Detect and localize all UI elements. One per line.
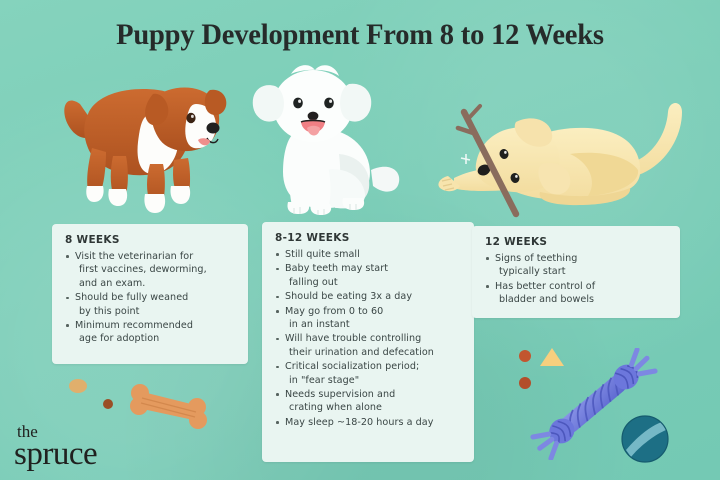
- list-item: Minimum recommended age for adoption: [65, 319, 236, 346]
- teal-ball-toy: [620, 414, 670, 464]
- bullet-line: bladder and bowels: [495, 293, 668, 306]
- bullet-list: Visit the veterinarian for first vaccine…: [65, 250, 236, 346]
- bullet-line: Minimum recommended: [75, 320, 193, 331]
- bullet-line: their urination and defecation: [285, 346, 462, 359]
- treat-kibble-dots: [512, 342, 582, 394]
- bullet-line: Still quite small: [285, 249, 360, 260]
- list-item: May go from 0 to 60 in an instant: [275, 305, 462, 332]
- list-item: Baby teeth may start falling out: [275, 262, 462, 289]
- bullet-line: May go from 0 to 60: [285, 306, 383, 317]
- logo-line-spruce: spruce: [14, 439, 97, 470]
- bullet-line: typically start: [495, 265, 668, 278]
- brown-white-puppy-standing: [58, 52, 248, 217]
- bullet-line: Critical socialization period;: [285, 361, 419, 372]
- bullet-line: by this point: [75, 305, 236, 318]
- bullet-line: Has better control of: [495, 281, 595, 292]
- list-item: Should be eating 3x a day: [275, 290, 462, 303]
- bullet-line: in "fear stage": [285, 374, 462, 387]
- card-heading: 8-12 WEEKS: [275, 232, 462, 244]
- bullet-line: May sleep ~18-20 hours a day: [285, 417, 433, 428]
- yellow-lab-puppy-with-stick: [420, 92, 710, 220]
- bullet-line: Signs of teething: [495, 253, 577, 264]
- card-heading: 12 WEEKS: [485, 236, 668, 248]
- bullet-line: crating when alone: [285, 401, 462, 414]
- list-item: Critical socialization period; in "fear …: [275, 360, 462, 387]
- bullet-line: Should be fully weaned: [75, 292, 188, 303]
- bullet-line: Visit the veterinarian for: [75, 251, 193, 262]
- list-item: Will have trouble controlling their urin…: [275, 332, 462, 359]
- infographic-canvas: Puppy Development From 8 to 12 Weeks: [0, 0, 720, 480]
- page-title: Puppy Development From 8 to 12 Weeks: [18, 18, 702, 52]
- list-item: Signs of teething typically start: [485, 252, 668, 279]
- bullet-line: and an exam.: [75, 277, 236, 290]
- info-card-8-12-weeks: 8-12 WEEKS Still quite small Baby teeth …: [262, 222, 474, 462]
- the-spruce-logo: the spruce: [14, 424, 97, 470]
- bullet-line: Will have trouble controlling: [285, 333, 421, 344]
- bullet-line: in an instant: [285, 318, 462, 331]
- bullet-line: Should be eating 3x a day: [285, 291, 412, 302]
- bullet-line: Needs supervision and: [285, 389, 395, 400]
- list-item: Should be fully weaned by this point: [65, 291, 236, 318]
- bullet-list: Signs of teething typically start Has be…: [485, 252, 668, 307]
- list-item: May sleep ~18-20 hours a day: [275, 416, 462, 429]
- info-card-8-weeks: 8 WEEKS Visit the veterinarian for first…: [52, 224, 248, 364]
- bullet-line: first vaccines, deworming,: [75, 263, 236, 276]
- treat-kibble-dots: [66, 376, 122, 412]
- bullet-line: Baby teeth may start: [285, 263, 388, 274]
- bullet-line: falling out: [285, 276, 462, 289]
- dog-bone-treat: [126, 382, 212, 430]
- bullet-line: age for adoption: [75, 332, 236, 345]
- card-heading: 8 WEEKS: [65, 234, 236, 246]
- bullet-list: Still quite small Baby teeth may start f…: [275, 248, 462, 429]
- list-item: Visit the veterinarian for first vaccine…: [65, 250, 236, 290]
- white-fluffy-puppy-sitting: [243, 58, 408, 218]
- list-item: Still quite small: [275, 248, 462, 261]
- list-item: Needs supervision and crating when alone: [275, 388, 462, 415]
- info-card-12-weeks: 12 WEEKS Signs of teething typically sta…: [472, 226, 680, 318]
- list-item: Has better control of bladder and bowels: [485, 280, 668, 307]
